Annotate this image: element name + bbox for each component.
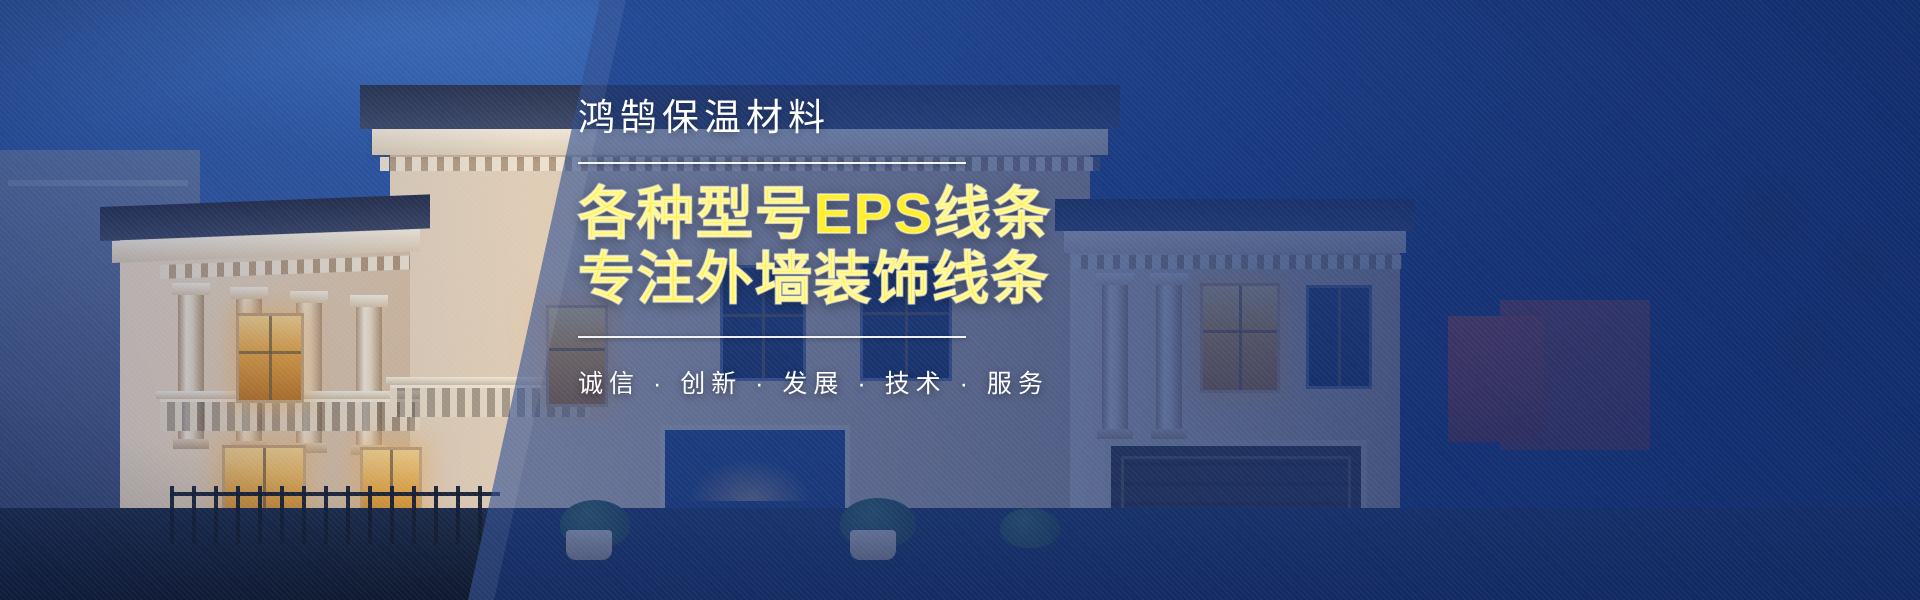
divider-bottom xyxy=(578,336,966,338)
banner-text-block: 鸿鹄保温材料 各种型号EPS线条 专注外墙装饰线条 诚信 · 创新 · 发展 ·… xyxy=(578,96,1278,400)
divider-top xyxy=(578,162,966,164)
tagline: 诚信 · 创新 · 发展 · 技术 · 服务 xyxy=(578,364,1278,400)
headline-line-1: 各种型号EPS线条 xyxy=(578,182,1278,247)
hero-banner: 鸿鹄保温材料 各种型号EPS线条 专注外墙装饰线条 诚信 · 创新 · 发展 ·… xyxy=(0,0,1920,600)
headline-line-2: 专注外墙装饰线条 xyxy=(578,247,1278,312)
brand-name: 鸿鹄保温材料 xyxy=(578,96,1278,140)
